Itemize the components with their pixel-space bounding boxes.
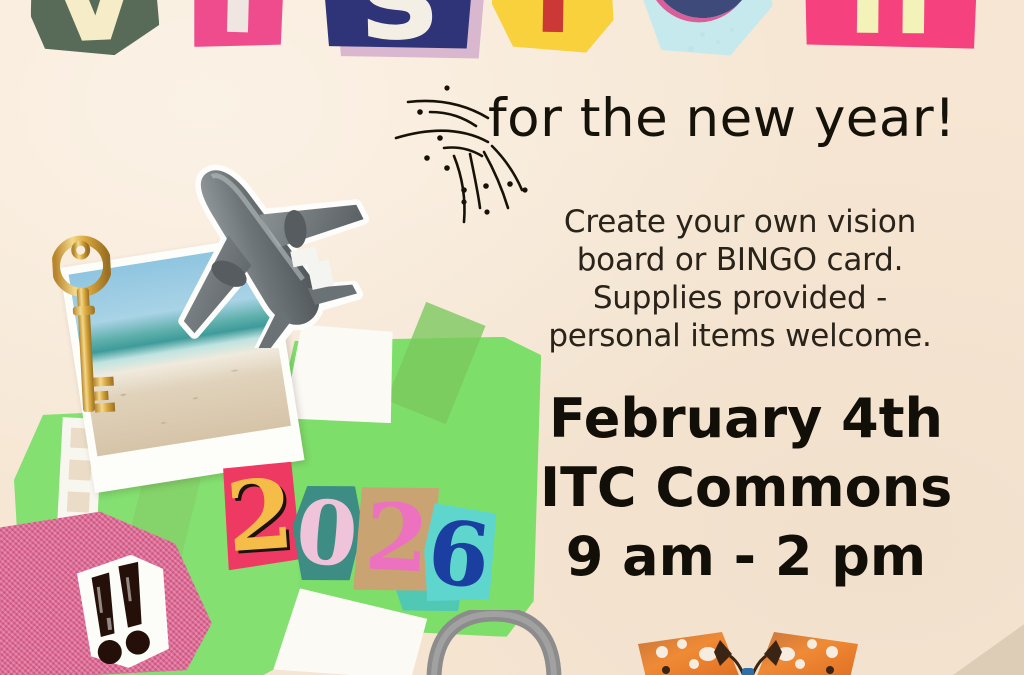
letter-o-ring (648, 0, 757, 21)
orange-butterfly-icon (636, 618, 860, 675)
event-details-block: February 4th ITC Commons 9 am - 2 pm (540, 384, 952, 591)
event-date: February 4th (540, 384, 952, 453)
event-location: ITC Commons (540, 453, 952, 522)
gray-headphone-arch-icon (424, 610, 564, 675)
headline-letter-i-first: i (189, 0, 288, 49)
event-time: 9 am - 2 pm (540, 522, 952, 591)
tagline-text: for the new year! (488, 88, 956, 149)
body-copy-line: board or BINGO card. (530, 241, 950, 279)
year-collage: 2 0 2 6 (214, 458, 464, 598)
headline-vision: V i s i n (0, 0, 1024, 66)
year-digit: 0 (288, 481, 366, 585)
airplane-icon (140, 148, 380, 348)
headline-letter-n: n (799, 0, 980, 51)
double-exclamation-sticker (72, 551, 177, 673)
body-copy-line: Supplies provided - (530, 279, 950, 317)
headline-letter-i-second: i (491, 0, 615, 53)
body-copy-line: personal items welcome. (530, 317, 950, 355)
poster-canvas: 2 0 2 6 (0, 0, 1024, 675)
golden-key-icon (51, 231, 119, 434)
body-copy-line: Create your own vision (530, 203, 950, 241)
year-digit: 2 (218, 461, 301, 570)
headline-letter-o (637, 0, 776, 61)
body-copy-block: Create your own vision board or BINGO ca… (530, 203, 950, 356)
corner-paper-shape (918, 600, 1024, 675)
headline-letter-v: V (27, 0, 160, 59)
